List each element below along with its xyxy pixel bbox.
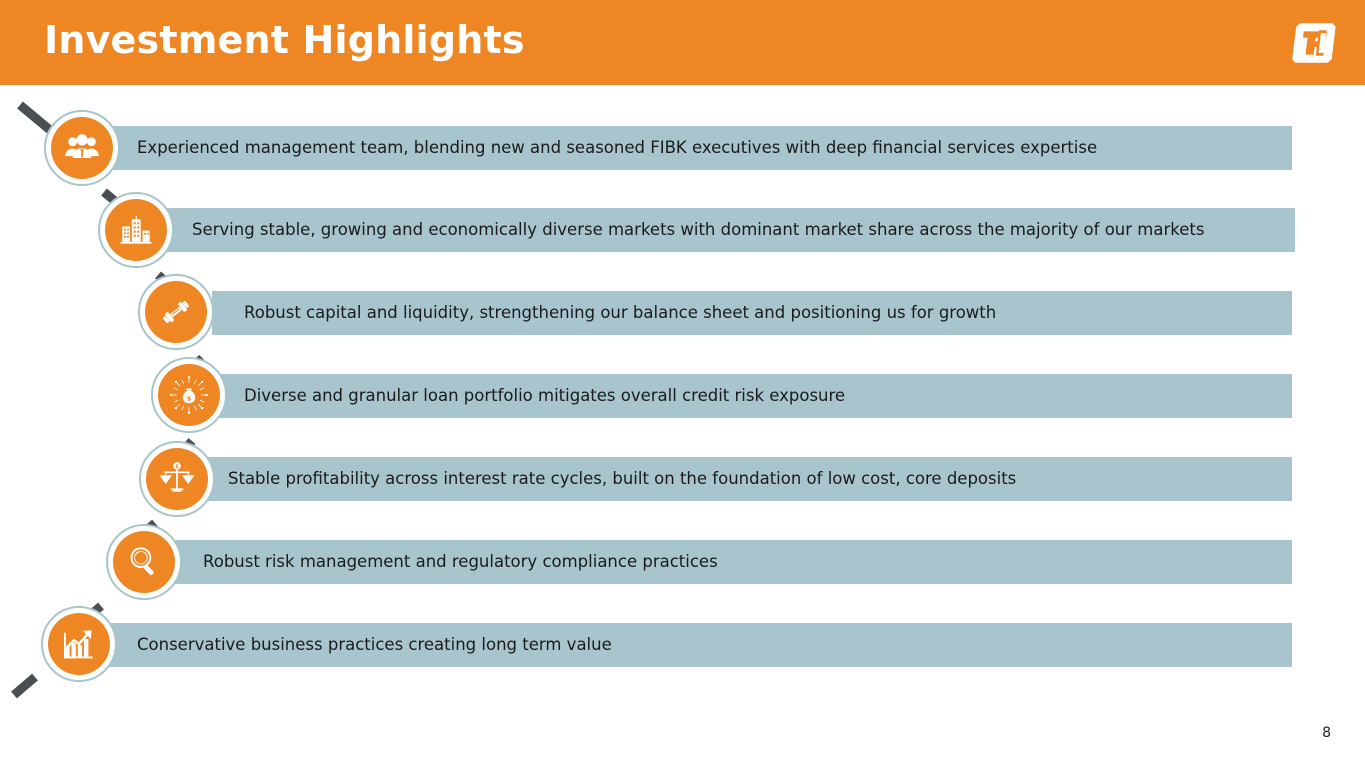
money-bag-network-icon: $ [158,364,220,426]
team-people-icon [51,117,113,179]
highlight-row[interactable]: Experienced management team, blending ne… [0,126,1365,170]
svg-text:$: $ [175,464,179,470]
highlight-text: Robust risk management and regulatory co… [203,540,718,584]
highlight-text: Serving stable, growing and economically… [192,208,1204,252]
page-title: Investment Highlights [44,18,525,62]
highlight-text: Conservative business practices creating… [137,623,612,667]
highlight-icon-badge[interactable] [98,192,174,268]
highlight-icon-badge[interactable] [106,524,182,600]
highlight-text: Experienced management team, blending ne… [137,126,1097,170]
growth-bar-chart-icon [48,613,110,675]
slide-header: Investment Highlights [0,0,1365,85]
page-number: 8 [1322,725,1331,741]
highlight-icon-badge[interactable] [41,606,117,682]
highlight-text: Diverse and granular loan portfolio miti… [244,374,845,418]
svg-text:$: $ [187,394,192,402]
highlight-text: Stable profitability across interest rat… [228,457,1016,501]
highlight-icon-badge[interactable] [138,274,214,350]
city-buildings-icon [105,199,167,261]
slide-body: Experienced management team, blending ne… [0,85,1365,768]
highlight-row[interactable]: Robust risk management and regulatory co… [0,540,1365,584]
dumbbell-icon [145,281,207,343]
magnifying-glass-icon [113,531,175,593]
highlight-icon-badge[interactable] [44,110,120,186]
highlight-text: Robust capital and liquidity, strengthen… [244,291,996,335]
highlight-row[interactable]: Conservative business practices creating… [0,623,1365,667]
highlight-icon-badge[interactable]: $ [139,441,215,517]
balance-scales-icon: $ [146,448,208,510]
fib-logo [1285,14,1343,72]
highlight-row[interactable]: Serving stable, growing and economically… [0,208,1365,252]
highlight-icon-badge[interactable]: $ [151,357,227,433]
